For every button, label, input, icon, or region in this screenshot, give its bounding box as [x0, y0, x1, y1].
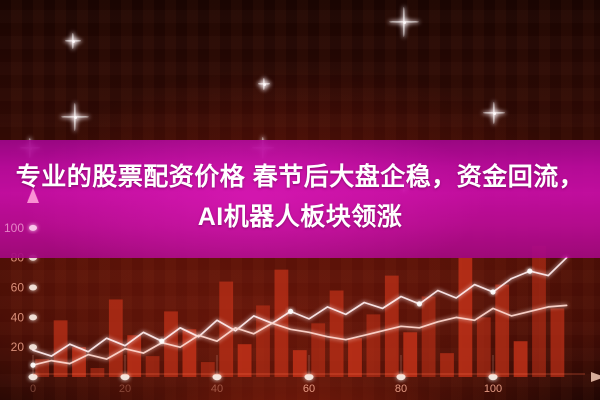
band-data-point-marker [288, 309, 293, 314]
band-data-point-marker [30, 363, 35, 368]
banner-title: 专业的股票配资价格 春节后大盘企稳，资金回流， AI机器人板块领涨 [0, 157, 600, 237]
banner-image: 02040608010020406080100 100 专业的股票配资价格 春节… [0, 0, 600, 400]
title-line-1: 专业的股票配资价格 春节后大盘企稳，资金回流， [0, 157, 600, 197]
band-series-line [33, 305, 567, 365]
title-line-2: AI机器人板块领涨 [0, 197, 600, 237]
band-data-point-marker [417, 301, 422, 306]
band-data-point-marker [159, 339, 164, 344]
band-data-point-marker [490, 289, 495, 294]
band-data-point-marker [527, 269, 532, 274]
band-series-line [33, 258, 567, 356]
